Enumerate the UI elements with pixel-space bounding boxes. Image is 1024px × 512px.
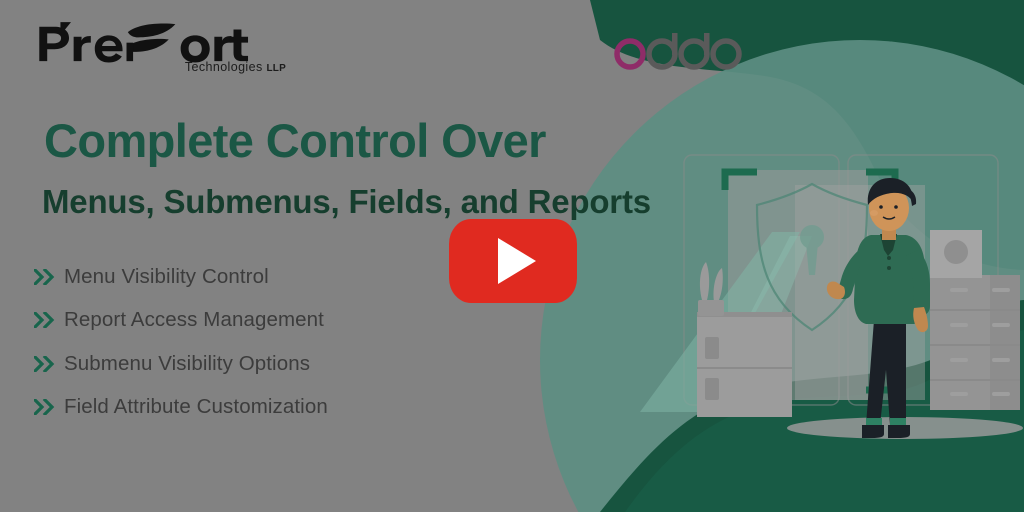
odoo-o-accent bbox=[617, 41, 643, 67]
play-triangle-icon bbox=[498, 238, 536, 284]
list-item: Menu Visibility Control bbox=[34, 255, 464, 299]
list-item: Submenu Visibility Options bbox=[34, 342, 464, 386]
double-chevron-icon bbox=[34, 312, 64, 328]
double-chevron-icon bbox=[34, 356, 64, 372]
double-chevron-icon bbox=[34, 269, 64, 285]
banner-canvas: Technologies LLP Complete Control Over M… bbox=[0, 0, 1024, 512]
logo-tagline-text: Technologies bbox=[185, 60, 263, 74]
feature-list: Menu Visibility Control Report Access Ma… bbox=[34, 255, 464, 429]
play-video-button[interactable] bbox=[449, 219, 577, 303]
page-title: Complete Control Over bbox=[44, 116, 546, 165]
list-item-label: Field Attribute Customization bbox=[64, 395, 328, 419]
logo-tagline: Technologies LLP bbox=[185, 60, 286, 74]
odoo-logo bbox=[612, 32, 742, 72]
page-subtitle: Menus, Submenus, Fields, and Reports bbox=[42, 185, 651, 220]
odoo-wordmark bbox=[612, 32, 742, 72]
double-chevron-icon bbox=[34, 399, 64, 415]
prefortune-logo: Technologies LLP bbox=[34, 20, 294, 82]
logo-suffix-text: LLP bbox=[267, 63, 287, 74]
logo-wordmark bbox=[34, 20, 252, 64]
list-item: Report Access Management bbox=[34, 299, 464, 343]
list-item-label: Report Access Management bbox=[64, 308, 324, 332]
list-item-label: Submenu Visibility Options bbox=[64, 352, 310, 376]
list-item-label: Menu Visibility Control bbox=[64, 265, 269, 289]
list-item: Field Attribute Customization bbox=[34, 386, 464, 430]
